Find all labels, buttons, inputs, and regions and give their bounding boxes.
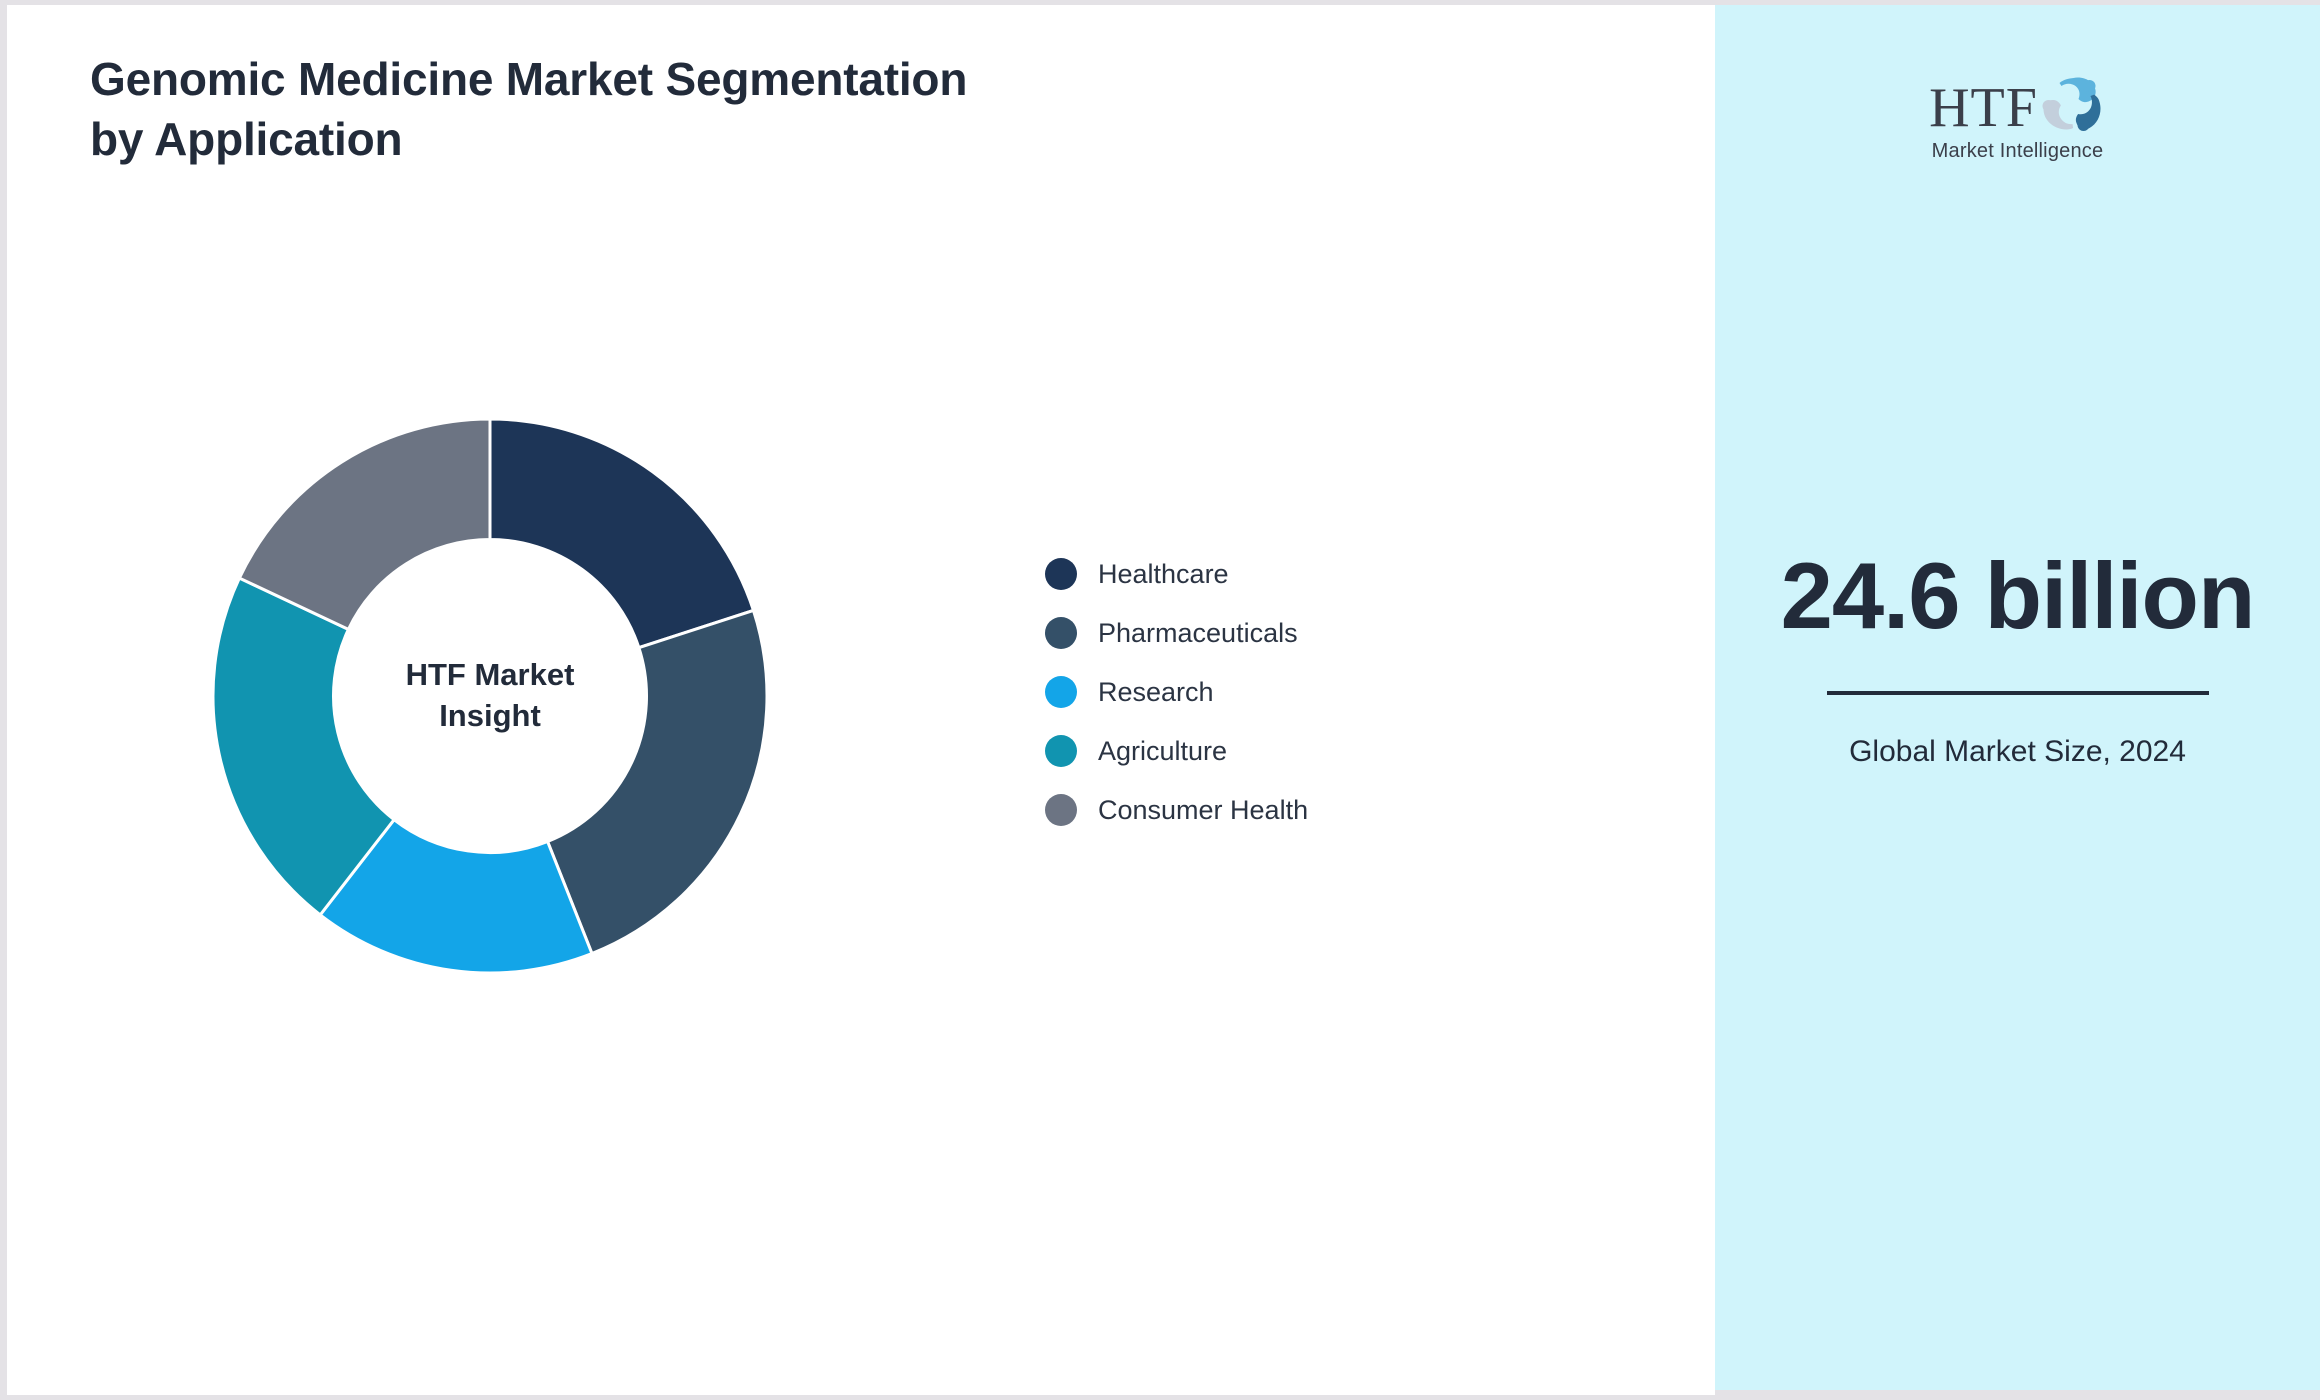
- bottom-edge-strip: [1715, 1390, 2320, 1395]
- stat-value: 24.6 billion: [1778, 545, 2258, 647]
- donut-slice-group: [213, 419, 767, 973]
- chart-panel: Genomic Medicine Market Segmentation by …: [7, 5, 1715, 1395]
- donut-slice[interactable]: [490, 419, 753, 648]
- infographic-card: Genomic Medicine Market Segmentation by …: [7, 5, 2320, 1395]
- brand-logo: HTF: [1905, 73, 2130, 161]
- stat-divider: [1827, 691, 2209, 695]
- legend-item-label: Consumer Health: [1098, 797, 1308, 824]
- brand-wordmark: HTF: [1929, 80, 2038, 136]
- legend-swatch-icon: [1045, 676, 1077, 708]
- legend-item-label: Pharmaceuticals: [1098, 620, 1298, 647]
- brand-tagline: Market Intelligence: [1905, 141, 2130, 161]
- donut-chart: HTF Market Insight: [211, 417, 769, 975]
- legend-item[interactable]: Consumer Health: [1045, 794, 1308, 826]
- legend-item-label: Research: [1098, 679, 1214, 706]
- brand-logo-row: HTF: [1905, 73, 2130, 143]
- legend-item[interactable]: Agriculture: [1045, 735, 1308, 767]
- legend-item[interactable]: Healthcare: [1045, 558, 1308, 590]
- stat-panel: HTF: [1715, 5, 2320, 1395]
- legend-item[interactable]: Pharmaceuticals: [1045, 617, 1308, 649]
- legend-swatch-icon: [1045, 735, 1077, 767]
- legend-item[interactable]: Research: [1045, 676, 1308, 708]
- legend-swatch-icon: [1045, 558, 1077, 590]
- donut-slice[interactable]: [548, 610, 767, 953]
- chart-legend: HealthcarePharmaceuticalsResearchAgricul…: [1045, 558, 1308, 826]
- legend-item-label: Healthcare: [1098, 561, 1229, 588]
- legend-swatch-icon: [1045, 617, 1077, 649]
- legend-swatch-icon: [1045, 794, 1077, 826]
- legend-item-label: Agriculture: [1098, 738, 1227, 765]
- triskelion-people-icon: [2040, 74, 2106, 139]
- page-title: Genomic Medicine Market Segmentation by …: [90, 50, 990, 170]
- market-size-stat: 24.6 billion Global Market Size, 2024: [1778, 545, 2258, 773]
- donut-chart-svg: [211, 417, 769, 975]
- stat-caption: Global Market Size, 2024: [1778, 731, 2258, 774]
- page-background: Genomic Medicine Market Segmentation by …: [0, 0, 2320, 1400]
